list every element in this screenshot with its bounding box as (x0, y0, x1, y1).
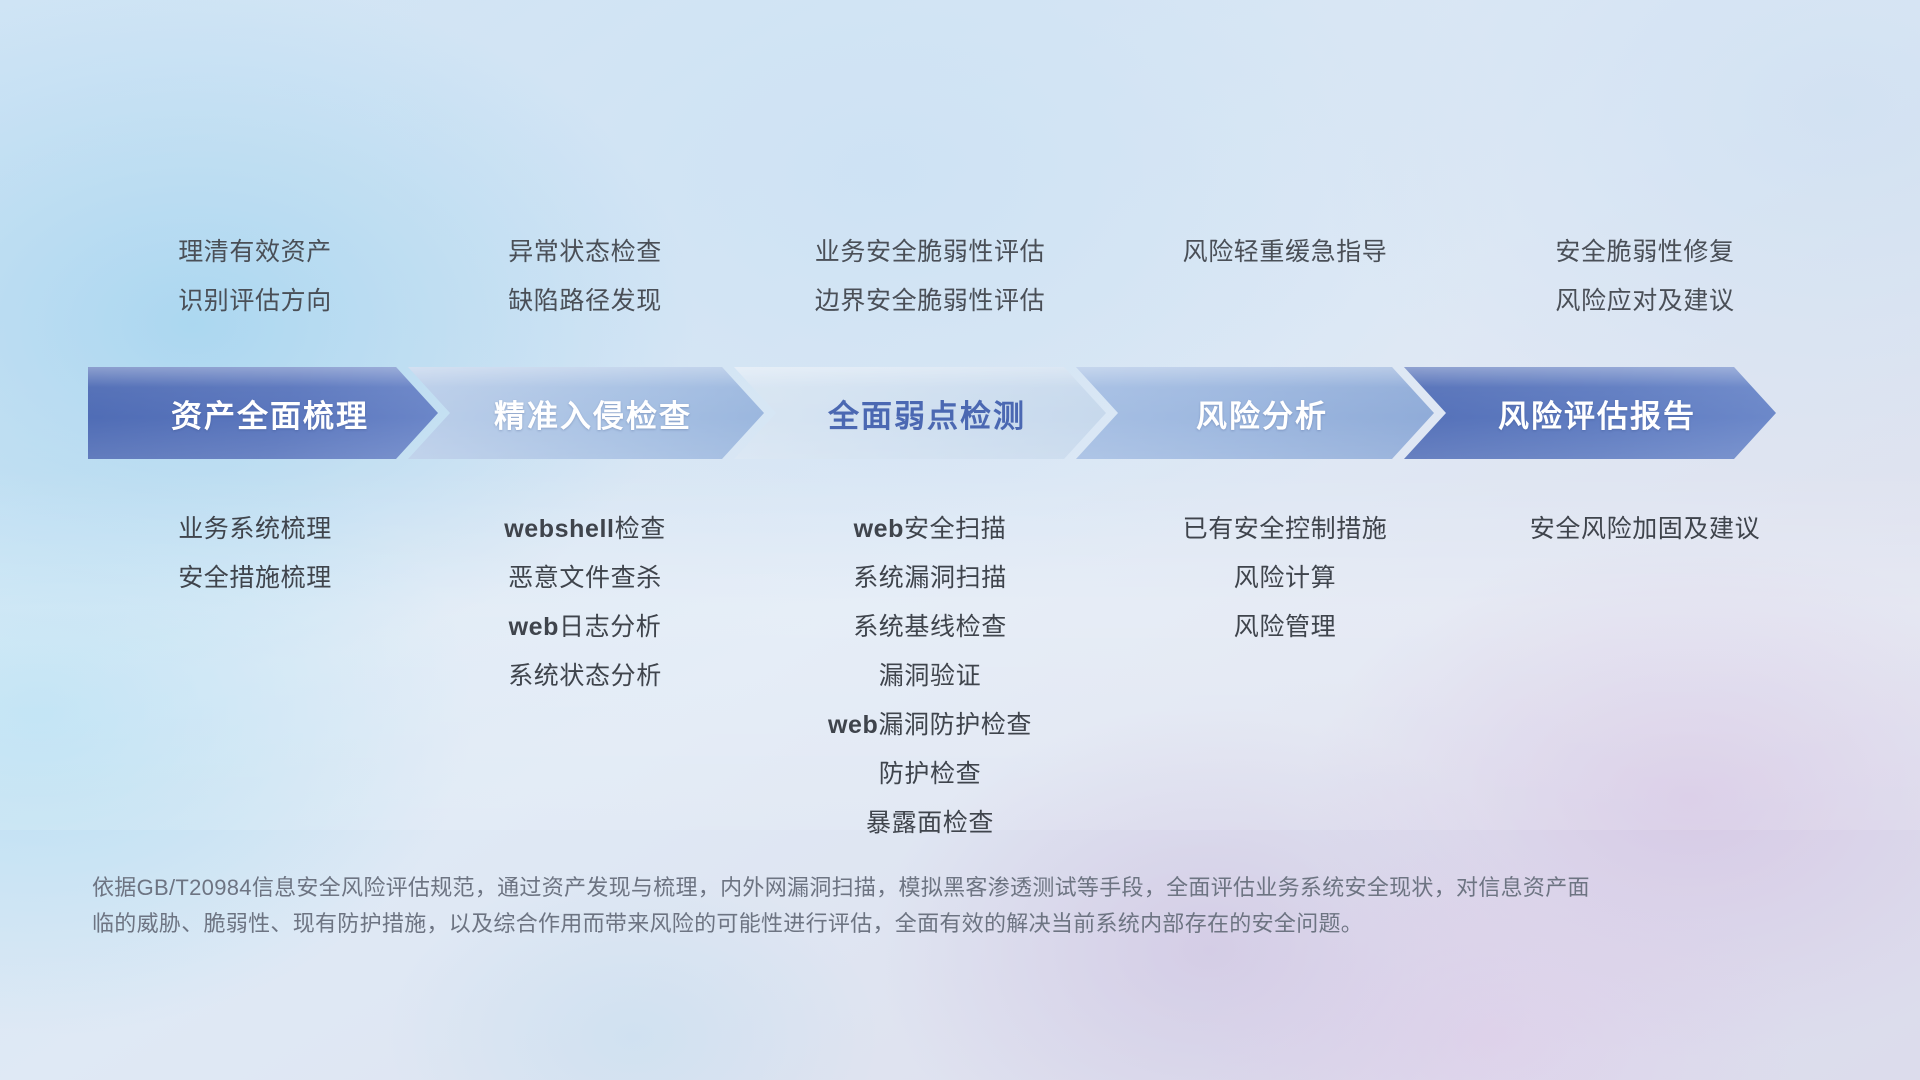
stage-title: 资产全面梳理 (157, 391, 369, 436)
list-item: 恶意文件查杀 (420, 554, 750, 603)
list-item-en: webshell (504, 515, 614, 543)
top-notes-column-risk-analysis: 风险轻重缓急指导 (1110, 228, 1460, 326)
top-note: 理清有效资产 (90, 228, 420, 277)
list-item-zh: 漏洞验证 (879, 662, 981, 690)
list-item-zh: 业务系统梳理 (178, 515, 332, 543)
top-notes-column-risk-report: 安全脆弱性修复风险应对及建议 (1460, 228, 1830, 326)
list-item: 系统基线检查 (750, 603, 1110, 652)
stage-chevron-risk-analysis[interactable]: 风险分析 (1076, 367, 1434, 459)
top-note: 缺陷路径发现 (420, 277, 750, 326)
list-item-zh: 已有安全控制措施 (1183, 515, 1388, 543)
list-item: 系统漏洞扫描 (750, 554, 1110, 603)
list-item: 系统状态分析 (420, 652, 750, 701)
stage-title: 风险分析 (1182, 391, 1328, 436)
top-notes-column-asset-inventory: 理清有效资产识别评估方向 (90, 228, 420, 326)
top-note: 异常状态检查 (420, 228, 750, 277)
list-item-zh: 系统漏洞扫描 (853, 564, 1007, 592)
top-note: 安全脆弱性修复 (1460, 228, 1830, 277)
list-item: 漏洞验证 (750, 652, 1110, 701)
items-column-weakness-detection: web安全扫描系统漏洞扫描系统基线检查漏洞验证web漏洞防护检查防护检查暴露面检… (750, 505, 1110, 848)
bottom-items-row: 业务系统梳理安全措施梳理webshell检查恶意文件查杀web日志分析系统状态分… (90, 505, 1830, 848)
list-item: web漏洞防护检查 (750, 701, 1110, 750)
list-item: web安全扫描 (750, 505, 1110, 554)
top-note: 业务安全脆弱性评估 (750, 228, 1110, 277)
items-column-intrusion-check: webshell检查恶意文件查杀web日志分析系统状态分析 (420, 505, 750, 848)
list-item-zh: 漏洞防护检查 (878, 711, 1032, 739)
list-item-zh: 安全扫描 (904, 515, 1006, 543)
list-item: 风险管理 (1110, 603, 1460, 652)
list-item: 风险计算 (1110, 554, 1460, 603)
list-item: 安全风险加固及建议 (1460, 505, 1830, 554)
top-note: 识别评估方向 (90, 277, 420, 326)
stage-title: 风险评估报告 (1484, 391, 1696, 436)
list-item-zh: 日志分析 (559, 613, 661, 641)
list-item-zh: 防护检查 (879, 760, 981, 788)
list-item-zh: 检查 (615, 515, 666, 543)
top-note: 风险应对及建议 (1460, 277, 1830, 326)
items-column-risk-report: 安全风险加固及建议 (1460, 505, 1830, 848)
top-note: 风险轻重缓急指导 (1110, 228, 1460, 277)
stage-chevron-asset-inventory[interactable]: 资产全面梳理 (88, 367, 438, 459)
top-notes-column-weakness-detection: 业务安全脆弱性评估边界安全脆弱性评估 (750, 228, 1110, 326)
process-banner: 资产全面梳理精准入侵检查全面弱点检测风险分析风险评估报告 (88, 367, 1830, 459)
list-item-en: web (828, 711, 878, 739)
footer-description: 依据GB/T20984信息安全风险评估规范，通过资产发现与梳理，内外网漏洞扫描，… (92, 870, 1612, 942)
list-item: 已有安全控制措施 (1110, 505, 1460, 554)
list-item-zh: 系统状态分析 (508, 662, 662, 690)
stage-chevron-risk-report[interactable]: 风险评估报告 (1404, 367, 1776, 459)
list-item-zh: 恶意文件查杀 (508, 564, 662, 592)
top-note: 边界安全脆弱性评估 (750, 277, 1110, 326)
list-item-zh: 系统基线检查 (853, 613, 1007, 641)
list-item-zh: 安全风险加固及建议 (1530, 515, 1760, 543)
slide-canvas: 理清有效资产识别评估方向异常状态检查缺陷路径发现业务安全脆弱性评估边界安全脆弱性… (0, 0, 1920, 1080)
list-item: web日志分析 (420, 603, 750, 652)
top-notes-column-intrusion-check: 异常状态检查缺陷路径发现 (420, 228, 750, 326)
stage-chevron-weakness-detection[interactable]: 全面弱点检测 (734, 367, 1106, 459)
items-column-risk-analysis: 已有安全控制措施风险计算风险管理 (1110, 505, 1460, 848)
list-item-zh: 安全措施梳理 (178, 564, 332, 592)
list-item: 安全措施梳理 (90, 554, 420, 603)
stage-title: 全面弱点检测 (814, 391, 1026, 436)
list-item-zh: 风险计算 (1234, 564, 1336, 592)
list-item: 业务系统梳理 (90, 505, 420, 554)
list-item-en: web (509, 613, 559, 641)
top-notes-row: 理清有效资产识别评估方向异常状态检查缺陷路径发现业务安全脆弱性评估边界安全脆弱性… (90, 228, 1830, 326)
list-item-zh: 暴露面检查 (866, 809, 994, 837)
items-column-asset-inventory: 业务系统梳理安全措施梳理 (90, 505, 420, 848)
stage-chevron-intrusion-check[interactable]: 精准入侵检查 (408, 367, 764, 459)
list-item: 防护检查 (750, 750, 1110, 799)
list-item: webshell检查 (420, 505, 750, 554)
list-item: 暴露面检查 (750, 799, 1110, 848)
stage-title: 精准入侵检查 (480, 391, 692, 436)
list-item-zh: 风险管理 (1234, 613, 1336, 641)
list-item-en: web (854, 515, 904, 543)
